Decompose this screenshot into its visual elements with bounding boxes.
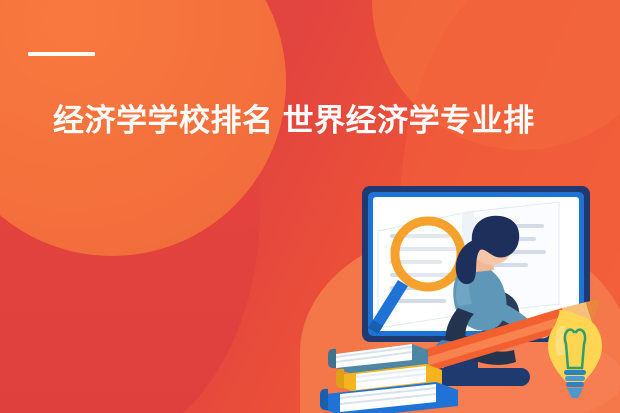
online-research-illustration: [316, 168, 620, 413]
promo-banner: 经济学学校排名 世界经济学专业排: [0, 0, 620, 413]
accent-rule: [28, 52, 95, 56]
banner-title: 经济学学校排名 世界经济学专业排: [53, 101, 620, 141]
magnifier-lens: [400, 226, 456, 282]
